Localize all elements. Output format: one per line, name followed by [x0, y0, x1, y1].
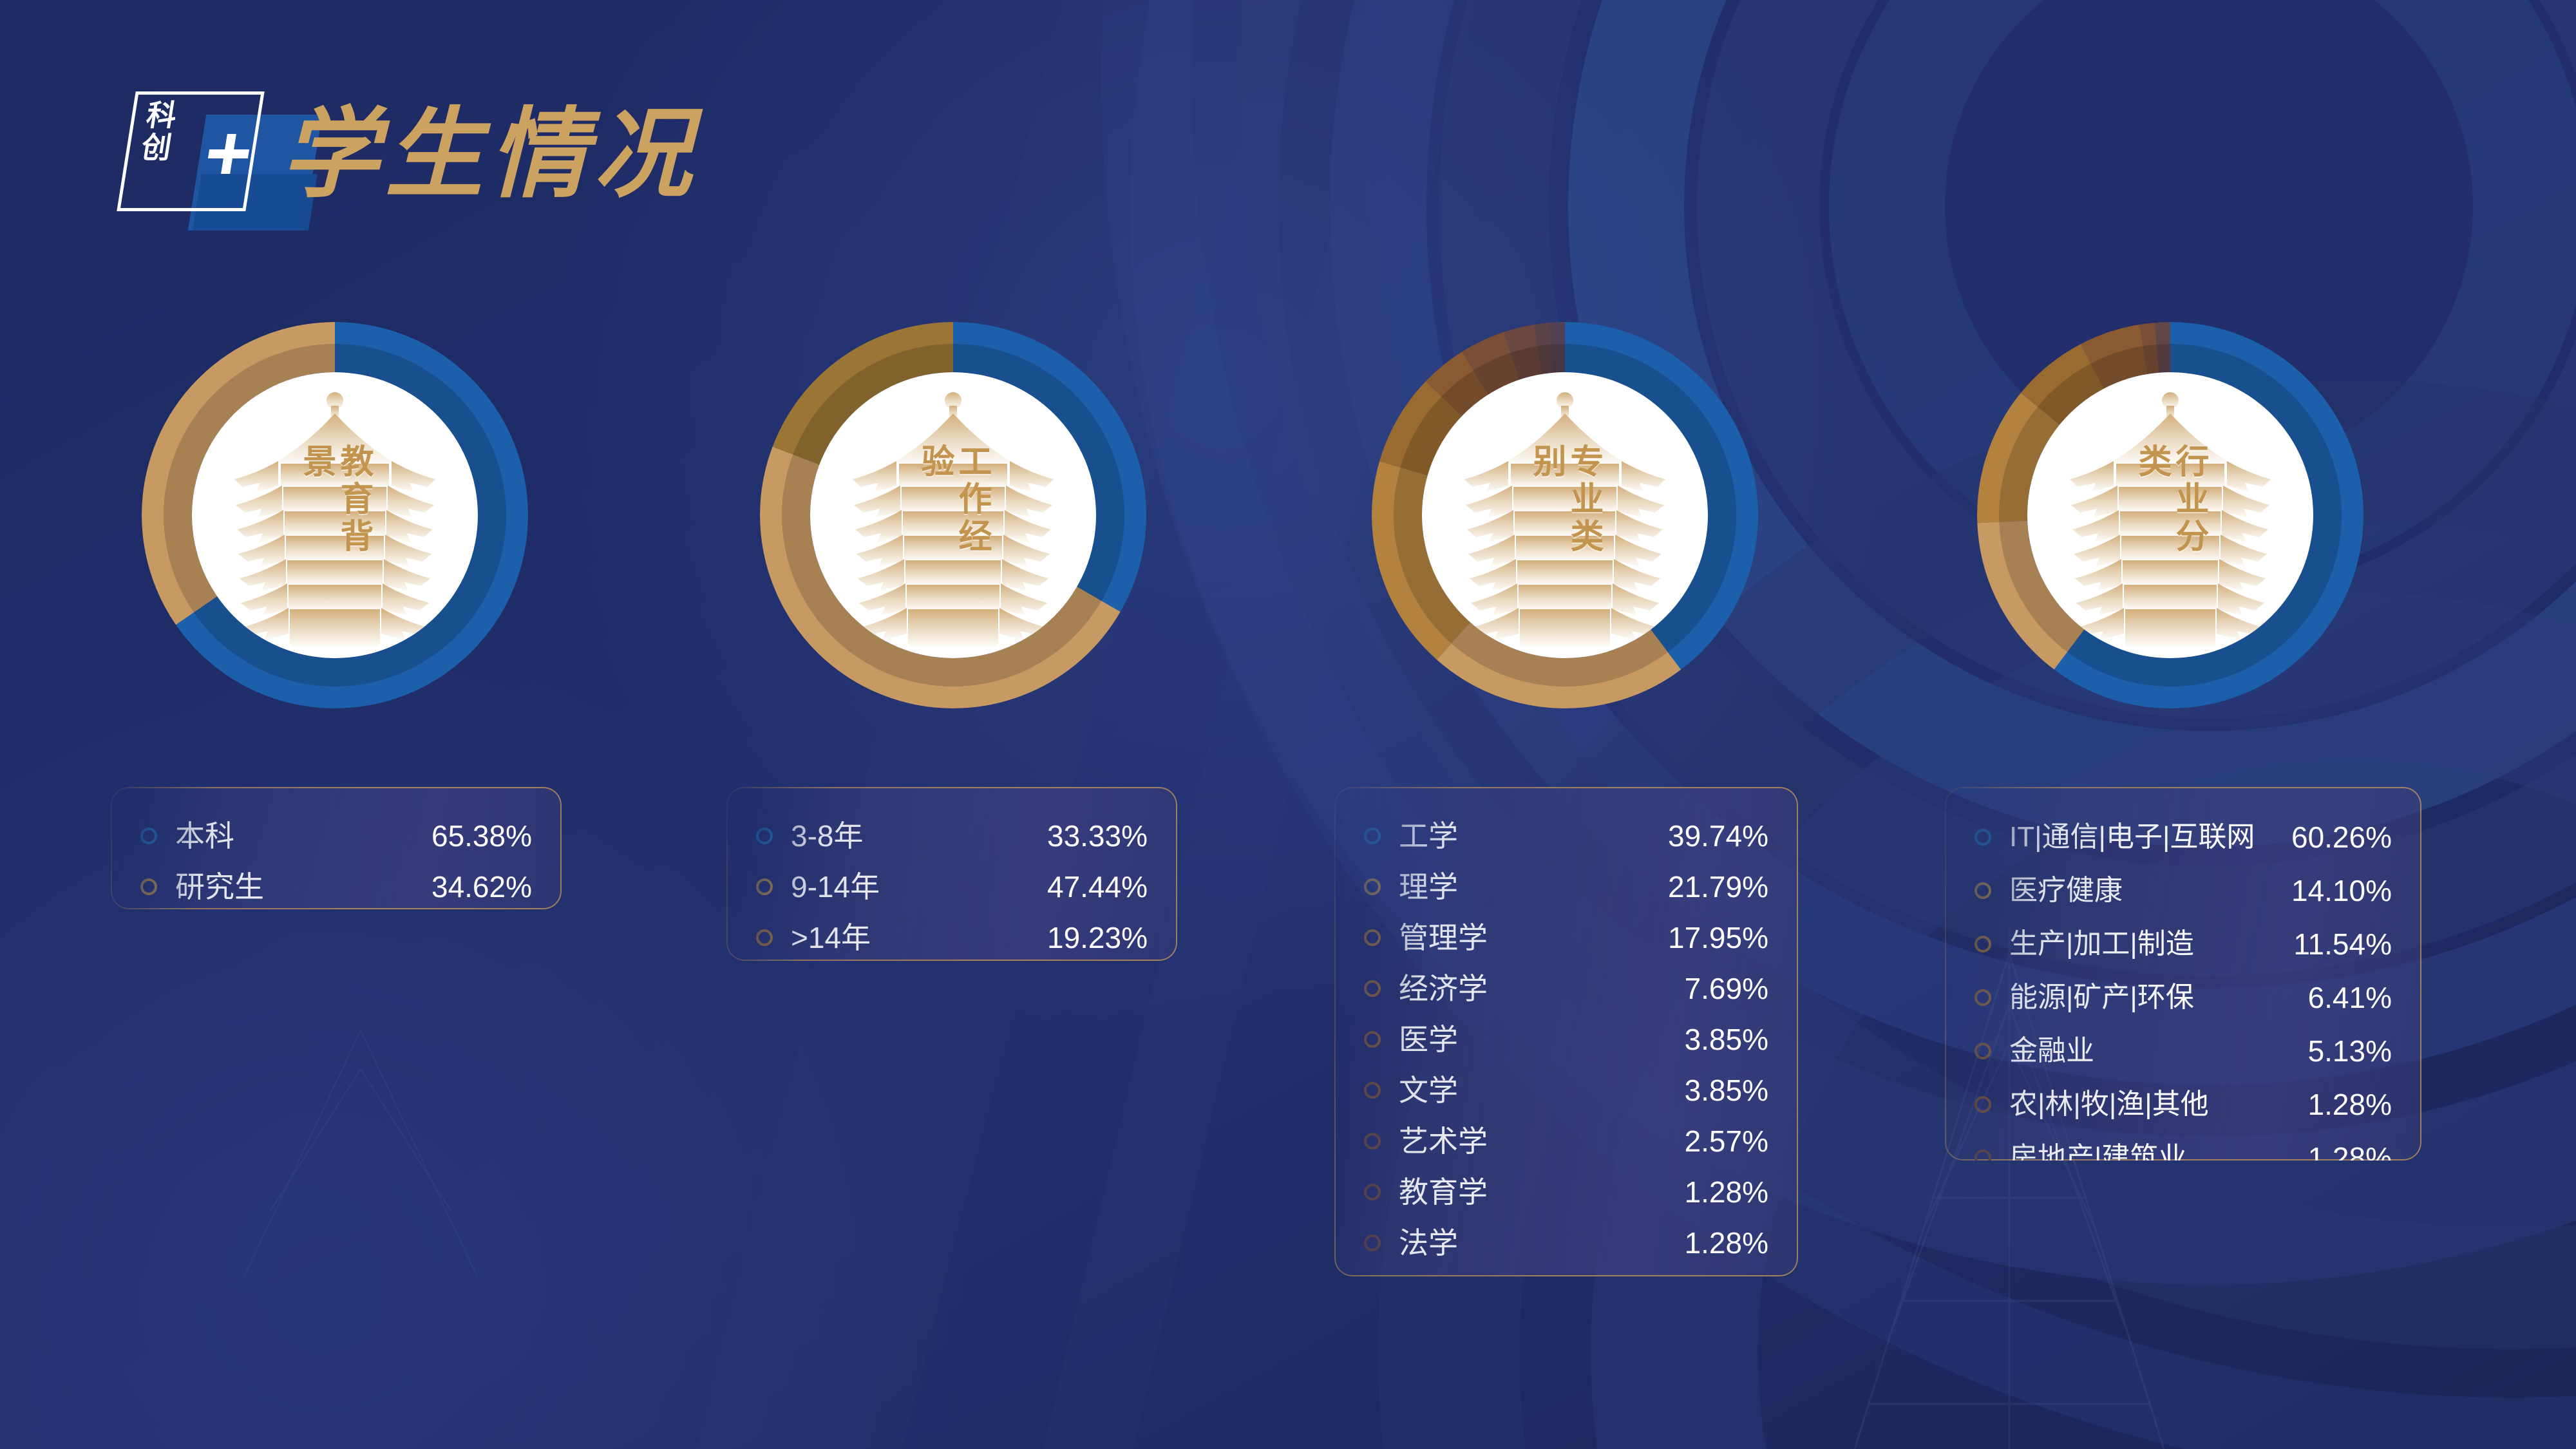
legend-item[interactable]: 3-8年 33.33% [756, 810, 1148, 861]
legend-label: >14年 [791, 922, 871, 954]
legend-label: 生产|加工|制造 [2009, 928, 2194, 960]
legend-item[interactable]: 工学 39.74% [1364, 810, 1768, 861]
legend-label: 医疗健康 [2009, 875, 2123, 907]
legend-item[interactable]: 艺术学 2.57% [1364, 1115, 1768, 1166]
legend-card-experience: 3-8年 33.33% 9-14年 47.44% >14年 19.23% [726, 787, 1177, 961]
page-title: 学生情况 [281, 100, 698, 209]
legend-label: 3-8年 [791, 820, 863, 852]
legend-item[interactable]: >14年 19.23% [756, 912, 1148, 963]
legend-marker-icon [1975, 882, 1991, 899]
legend-item[interactable]: 能源|矿产|环保 6.41% [1975, 971, 2392, 1024]
legend-value: 21.79% [1668, 871, 1768, 903]
donut-center-education: 教育背景 [192, 372, 478, 658]
legend-label: IT|通信|电子|互联网 [2009, 821, 2255, 853]
donut-center-label-major: 专业类别 [1528, 444, 1602, 587]
legend-marker-icon [756, 929, 773, 946]
donut-center-label-industry: 行业分类 [2133, 444, 2208, 587]
legend-value: 3.85% [1685, 1074, 1768, 1106]
legend-value: 6.41% [2308, 981, 2392, 1014]
legend-label: 研究生 [175, 871, 343, 903]
legend-label: 金融业 [2009, 1035, 2094, 1067]
legend-label: 经济学 [1399, 972, 1488, 1005]
legend-value: 34.62% [431, 871, 532, 903]
legend-value: 2.57% [1685, 1125, 1768, 1157]
donut-center-label-experience: 工作经验 [916, 444, 990, 587]
donut-ring-industry: 行业分类 [1977, 322, 2363, 708]
legend-marker-icon [1364, 980, 1381, 997]
donut-center-industry: 行业分类 [2027, 372, 2313, 658]
legend-list-major: 工学 39.74% 理学 21.79% 管理学 17.95% 经济学 7.69%… [1336, 788, 1797, 1275]
legend-value: 7.69% [1685, 972, 1768, 1005]
donut-chart-industry: 行业分类 [1951, 303, 2389, 753]
legend-marker-icon [1364, 828, 1381, 844]
legend-marker-icon [1975, 829, 1991, 846]
legend-label: 艺术学 [1399, 1125, 1488, 1157]
legend-item[interactable]: 本科 65.38% [140, 810, 532, 861]
donut-chart-major: 专业类别 [1346, 303, 1784, 753]
logo-char-1: 科 [144, 99, 246, 131]
legend-item[interactable]: 教育学 1.28% [1364, 1166, 1768, 1217]
legend-item[interactable]: 文学 3.85% [1364, 1065, 1768, 1115]
legend-label: 管理学 [1399, 922, 1488, 954]
legend-item[interactable]: 金融业 5.13% [1975, 1024, 2392, 1077]
legend-item[interactable]: 9-14年 47.44% [756, 861, 1148, 912]
legend-marker-icon [140, 878, 157, 895]
donut-center-major: 专业类别 [1422, 372, 1708, 658]
legend-label: 农|林|牧|渔|其他 [2009, 1088, 2209, 1121]
legend-value: 19.23% [1047, 922, 1148, 954]
legend-label: 教育学 [1399, 1176, 1488, 1208]
donut-ring-major: 专业类别 [1372, 322, 1758, 708]
legend-value: 11.54% [2293, 928, 2392, 960]
legend-label: 工学 [1399, 820, 1458, 852]
legend-marker-icon [1364, 1235, 1381, 1251]
legend-label: 医学 [1399, 1023, 1458, 1056]
donut-chart-row: 教育背景 [0, 303, 2576, 753]
donut-chart-education: 教育背景 [116, 303, 554, 753]
slide-canvas: 科 创 学生情况 [0, 0, 2576, 1449]
legend-label: 能源|矿产|环保 [2009, 981, 2194, 1014]
legend-value: 65.38% [431, 820, 532, 852]
legend-label: 理学 [1399, 871, 1458, 903]
legend-marker-icon [1364, 929, 1381, 946]
legend-item[interactable]: 理学 21.79% [1364, 861, 1768, 912]
legend-value: 1.28% [1685, 1227, 1768, 1259]
legend-card-major: 工学 39.74% 理学 21.79% 管理学 17.95% 经济学 7.69%… [1334, 787, 1798, 1276]
legend-value: 60.26% [2291, 821, 2392, 853]
legend-item[interactable]: 农|林|牧|渔|其他 1.28% [1975, 1077, 2392, 1131]
legend-card-industry: IT|通信|电子|互联网 60.26% 医疗健康 14.10% 生产|加工|制造… [1945, 787, 2421, 1160]
legend-label: 9-14年 [791, 871, 880, 903]
legend-item[interactable]: 医疗健康 14.10% [1975, 864, 2392, 917]
legend-card-education: 本科 65.38% 研究生 34.62% [111, 787, 562, 909]
legend-marker-icon [1975, 989, 1991, 1006]
legend-value: 3.85% [1685, 1023, 1768, 1056]
legend-marker-icon [1364, 878, 1381, 895]
donut-center-label-education: 教育背景 [298, 444, 372, 587]
legend-item[interactable]: IT|通信|电子|互联网 60.26% [1975, 810, 2392, 864]
header: 科 创 学生情况 [126, 77, 706, 245]
legend-marker-icon [1975, 1096, 1991, 1113]
legend-label: 本科 [175, 820, 343, 852]
plus-icon [205, 134, 252, 174]
legend-item[interactable]: 管理学 17.95% [1364, 912, 1768, 963]
legend-value: 1.28% [2308, 1088, 2392, 1121]
legend-list-industry: IT|通信|电子|互联网 60.26% 医疗健康 14.10% 生产|加工|制造… [1946, 788, 2420, 1159]
legend-label: 法学 [1399, 1227, 1458, 1259]
legend-item[interactable]: 研究生 34.62% [140, 861, 532, 912]
legend-item[interactable]: 生产|加工|制造 11.54% [1975, 917, 2392, 971]
legend-marker-icon [1364, 1031, 1381, 1048]
legend-value: 17.95% [1668, 922, 1768, 954]
legend-value: 5.13% [2308, 1035, 2392, 1067]
legend-value: 47.44% [1047, 871, 1148, 903]
legend-marker-icon [1364, 1082, 1381, 1099]
legend-item[interactable]: 经济学 7.69% [1364, 963, 1768, 1014]
legend-label: 文学 [1399, 1074, 1458, 1106]
donut-chart-experience: 工作经验 [734, 303, 1172, 753]
legend-marker-icon [140, 828, 157, 844]
legend-item[interactable]: 医学 3.85% [1364, 1014, 1768, 1065]
donut-center-experience: 工作经验 [810, 372, 1096, 658]
legend-list-education: 本科 65.38% 研究生 34.62% [112, 788, 560, 908]
legend-value: 1.28% [1685, 1176, 1768, 1208]
donut-ring-education: 教育背景 [142, 322, 528, 708]
legend-marker-icon [1975, 1043, 1991, 1059]
legend-value: 14.10% [2291, 875, 2392, 907]
legend-marker-icon [1364, 1133, 1381, 1150]
legend-item[interactable]: 法学 1.28% [1364, 1217, 1768, 1268]
legend-value: 39.74% [1668, 820, 1768, 852]
legend-value: 33.33% [1047, 820, 1148, 852]
legend-marker-icon [1975, 936, 1991, 952]
legend-marker-icon [756, 828, 773, 844]
legend-marker-icon [756, 878, 773, 895]
legend-marker-icon [1364, 1184, 1381, 1200]
legend-list-experience: 3-8年 33.33% 9-14年 47.44% >14年 19.23% [728, 788, 1176, 960]
donut-ring-experience: 工作经验 [760, 322, 1146, 708]
